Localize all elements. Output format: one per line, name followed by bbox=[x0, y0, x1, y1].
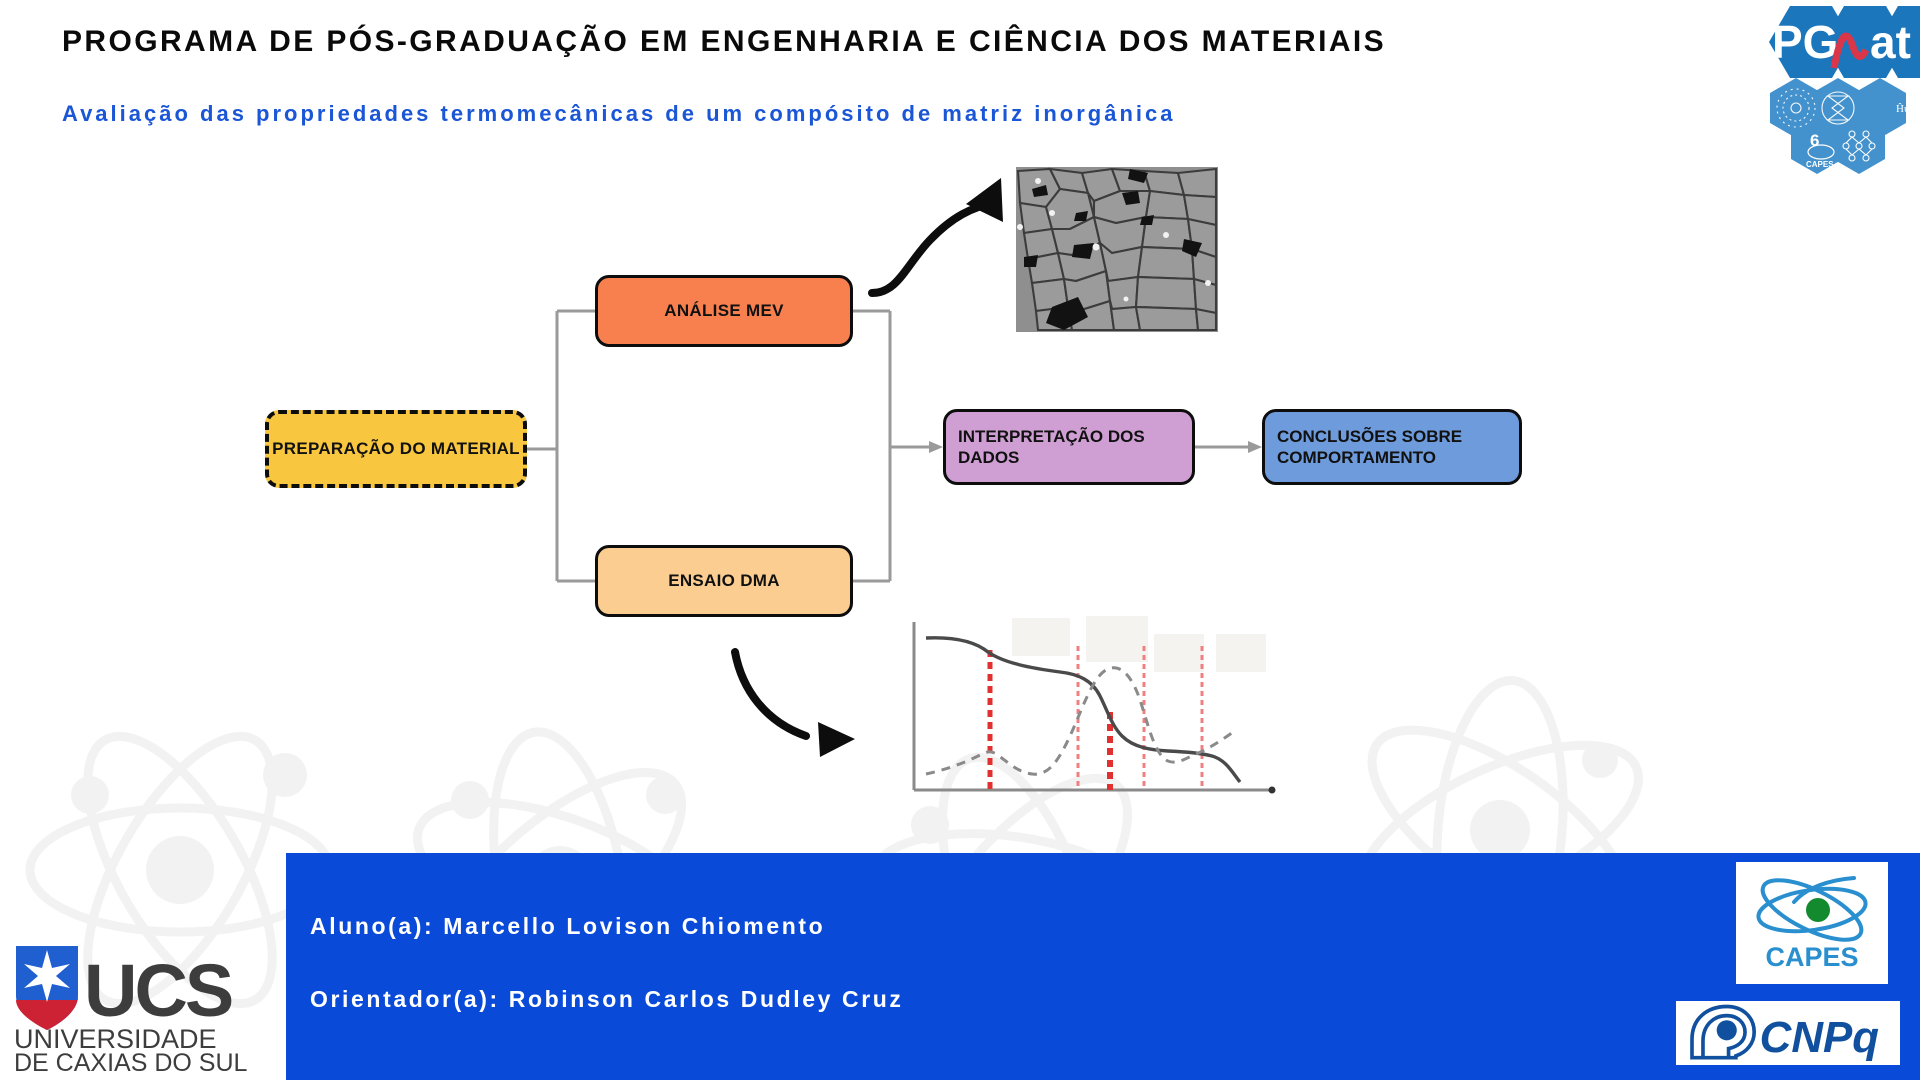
footer-student-name: Aluno(a): Marcello Lovison Chiomento bbox=[310, 913, 825, 940]
page-subtitle: Avaliação das propriedades termomecânica… bbox=[62, 101, 1175, 127]
pgmat-capes-label: CAPES bbox=[1806, 160, 1834, 169]
cnpq-label: CNPq bbox=[1760, 1013, 1880, 1062]
pgmat-text-pg: PG bbox=[1772, 16, 1838, 68]
ucs-acronym: UCS bbox=[84, 949, 232, 1032]
arrow-to-sem-head bbox=[966, 178, 1003, 222]
arrow-to-chart-head bbox=[818, 722, 855, 757]
arrow-to-sem bbox=[872, 203, 994, 293]
flow-box-analise-mev[interactable]: ANÁLISE MEV bbox=[595, 275, 853, 347]
ucs-logo: UCS UNIVERSIDADE DE CAXIAS DO SUL bbox=[6, 938, 274, 1074]
pgmat-formula: Ĥψ=Eψ bbox=[1896, 103, 1920, 115]
capes-logo: CAPES bbox=[1736, 862, 1888, 984]
flow-box-conclusoes-sobre-comportamento[interactable]: CONCLUSÕES SOBRE COMPORTAMENTO bbox=[1262, 409, 1522, 485]
chart-axis-endpoint bbox=[1269, 787, 1276, 794]
cnpq-head-dot bbox=[1717, 1020, 1737, 1040]
sem-micrograph bbox=[1016, 167, 1218, 332]
poster-canvas: PROGRAMA DE PÓS-GRADUAÇÃO EM ENGENHARIA … bbox=[0, 0, 1920, 1080]
arrow-to-chart bbox=[735, 652, 806, 736]
flow-box-interpretacao-dos-dados[interactable]: INTERPRETAÇÃO DOS DADOS bbox=[943, 409, 1195, 485]
pgmat-logo: PG at Ĥψ=Eψ 6 CAPES bbox=[1748, 2, 1920, 192]
capes-label: CAPES bbox=[1765, 942, 1858, 972]
chart-blank-label-boxes bbox=[1012, 616, 1266, 672]
page-title: PROGRAMA DE PÓS-GRADUAÇÃO EM ENGENHARIA … bbox=[62, 25, 1386, 59]
cnpq-logo: CNPq bbox=[1673, 998, 1903, 1068]
capes-nucleus bbox=[1806, 898, 1830, 922]
chart-series-tan-delta bbox=[926, 668, 1236, 774]
footer-advisor-name: Orientador(a): Robinson Carlos Dudley Cr… bbox=[310, 986, 904, 1013]
dma-curve-chart bbox=[900, 608, 1290, 818]
ucs-line2: DE CAXIAS DO SUL bbox=[14, 1049, 247, 1074]
flow-box-preparacao-do-material[interactable]: PREPARAÇÃO DO MATERIAL bbox=[265, 410, 527, 488]
flow-box-ensaio-dma[interactable]: ENSAIO DMA bbox=[595, 545, 853, 617]
pgmat-text-at: at bbox=[1870, 16, 1911, 68]
